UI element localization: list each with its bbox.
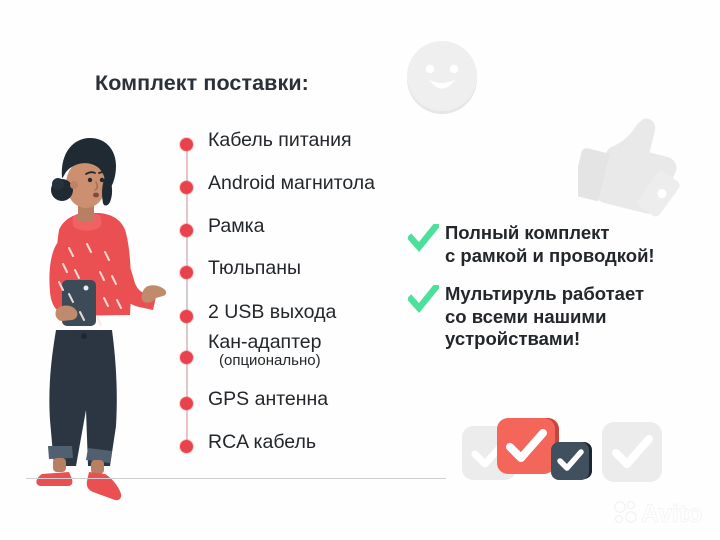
bullet-dot-icon <box>180 181 193 194</box>
list-item-label: 2 USB выхода <box>208 302 336 323</box>
bullet-dot-icon <box>180 351 193 364</box>
benefit-text: Мультируль работает со всеми нашими устр… <box>445 283 644 349</box>
woman-pointing-illustration <box>12 112 177 502</box>
bullet-dot-icon <box>180 224 193 237</box>
list-item-label: GPS антенна <box>208 389 328 410</box>
ground-line <box>26 478 446 479</box>
list-item-sublabel: (опционально) <box>219 353 321 370</box>
promo-card: Комплект поставки: Кабель питания Androi… <box>0 0 720 540</box>
benefits-list: Полный комплект с рамкой и проводкой! Му… <box>408 222 708 367</box>
check-icon <box>408 285 439 314</box>
checkbox-red-icon <box>497 418 555 474</box>
list-item-label: RCA кабель <box>208 432 316 453</box>
package-list: Кабель питания Android магнитола Рамка Т… <box>178 130 428 460</box>
list-item-label: Рамка <box>208 216 264 237</box>
bullet-dot-icon <box>180 397 193 410</box>
checkbox-cluster <box>462 412 662 492</box>
benefit-text: Полный комплект с рамкой и проводкой! <box>445 222 655 266</box>
avito-watermark: Avito <box>612 498 712 528</box>
checkbox-dark-icon <box>551 442 589 480</box>
benefit-item: Мультируль работает со всеми нашими устр… <box>408 283 708 351</box>
benefit-item: Полный комплект с рамкой и проводкой! <box>408 222 708 267</box>
list-item-label: Кабель питания <box>208 130 352 151</box>
bullet-dot-icon <box>180 266 193 279</box>
list-item-label: Android магнитола <box>208 173 375 194</box>
page-title: Комплект поставки: <box>95 71 309 96</box>
avito-wordmark: Avito <box>641 500 703 528</box>
bullet-dot-icon <box>180 310 193 323</box>
check-icon <box>408 224 439 253</box>
bullet-dot-icon <box>180 440 193 453</box>
list-item-label: Кан-адаптер <box>208 332 322 353</box>
bullet-dot-icon <box>180 138 193 151</box>
checkbox-gray-right-icon <box>602 422 662 482</box>
thumbs-up-icon <box>578 108 690 223</box>
smiley-face-icon <box>403 38 481 116</box>
list-item-label: Тюльпаны <box>208 258 301 279</box>
